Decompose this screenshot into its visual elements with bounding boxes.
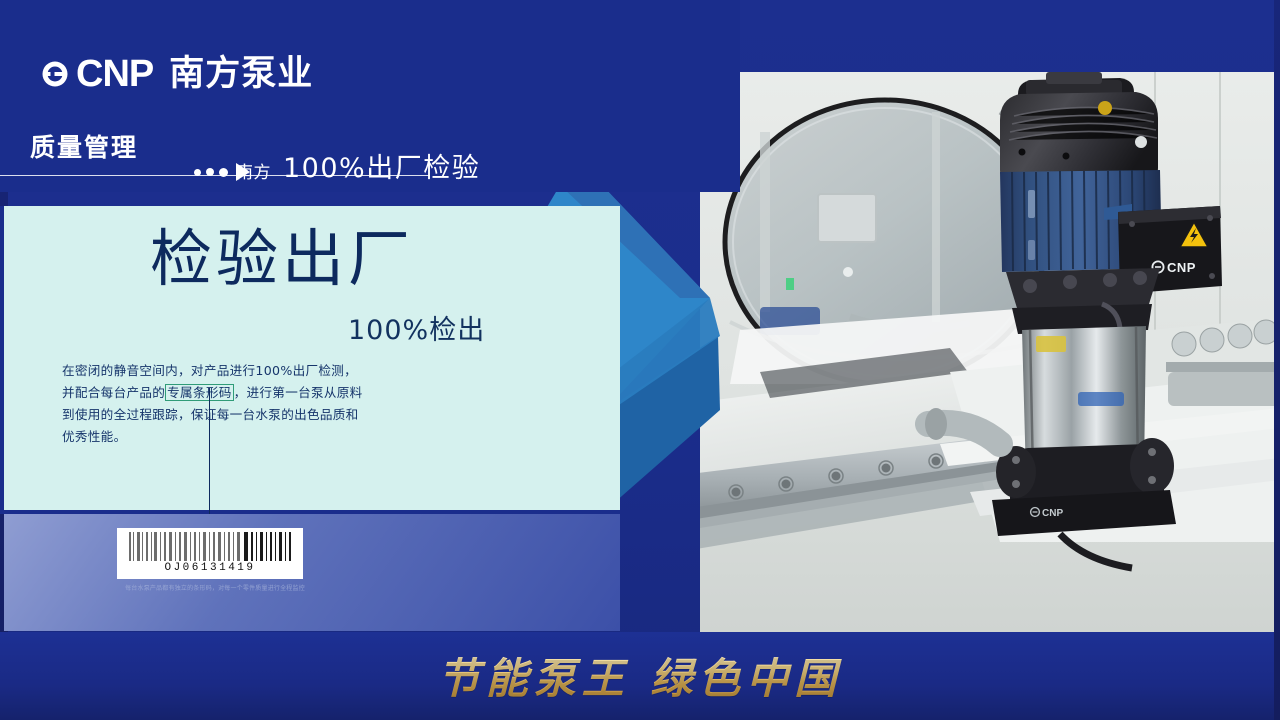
panel-subtitle: 100%检出 [348,308,485,347]
barcode-number: OJ06131419 [164,561,255,575]
svg-text:CNP: CNP [1042,508,1063,519]
barcode-card: OJ06131419 [117,528,303,579]
photo-illustration: CNP [700,72,1280,632]
footer-slogan: 节能泵王 绿色中国 [0,645,1280,706]
panel-body-text: 在密闭的静音空间内，对产品进行100%出厂检测，并配合每台产品的专属条形码，进行… [62,360,367,448]
brand-logo-chinese: 南方泵业 [169,57,313,92]
dot-3-icon [219,168,228,177]
callout-connector-line [209,388,210,533]
factory-photo: CNP [700,72,1280,632]
right-rail [1274,0,1280,720]
section-title: 质量管理 [30,128,138,164]
panel-title: 检验出厂 [150,228,414,290]
dot-2-icon [206,168,214,176]
dot-1-icon [194,169,201,176]
barcode-highlight-box: 专属条形码 [165,384,233,401]
lower-left-block [4,514,620,631]
breadcrumb-mark: 南方 [236,158,271,183]
svg-text:CNP: CNP [1167,260,1196,275]
page-headline: 100%出厂检验 [283,146,480,185]
slide-canvas: CNP [0,0,1280,720]
barcode-icon [125,532,295,561]
cnp-circle-logo-icon [40,59,70,89]
brand-logo-latin: CNP [76,55,153,93]
brand-logo[interactable]: CNP 南方泵业 [40,55,313,93]
barcode-caption: 每台水泵产品都有独立的条形码，对每一个零件质量进行全程监控 [117,584,313,593]
